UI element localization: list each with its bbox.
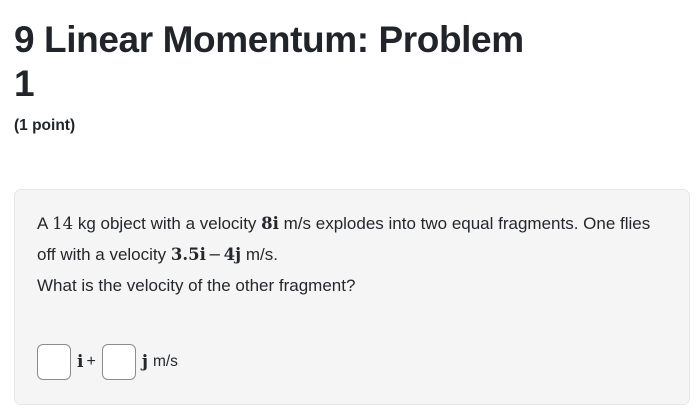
answer-row: i + j m/s [37,342,178,382]
question-fragment-velocity-i: 3.5i [171,245,206,264]
problem-page: 9 Linear Momentum: Problem 1 (1 point) A… [0,0,700,415]
unit-vector-j-label: j [142,352,148,372]
question-text-part-1: A [37,214,52,233]
answer-j-input[interactable] [102,344,136,380]
question-card: A 14 kg object with a velocity 8i m/s ex… [14,189,690,405]
units-label: m/s [153,353,178,371]
unit-vector-i-label: i [77,352,83,372]
question-text-part-2: kg object with a velocity [73,214,261,233]
page-title: 9 Linear Momentum: Problem 1 [0,0,548,105]
question-text-part-4: m/s. [241,245,278,264]
answer-i-input[interactable] [37,344,71,380]
question-initial-velocity: 8i [261,214,279,233]
question-statement: A 14 kg object with a velocity 8i m/s ex… [37,208,667,301]
points-label: (1 point) [0,105,700,135]
plus-operator-label: + [86,353,95,371]
question-minus-sign: − [206,245,224,264]
question-text-part-5: What is the velocity of the other fragme… [37,276,355,295]
question-fragment-velocity-j: 4j [224,245,241,264]
question-mass-value: 14 [52,214,73,233]
